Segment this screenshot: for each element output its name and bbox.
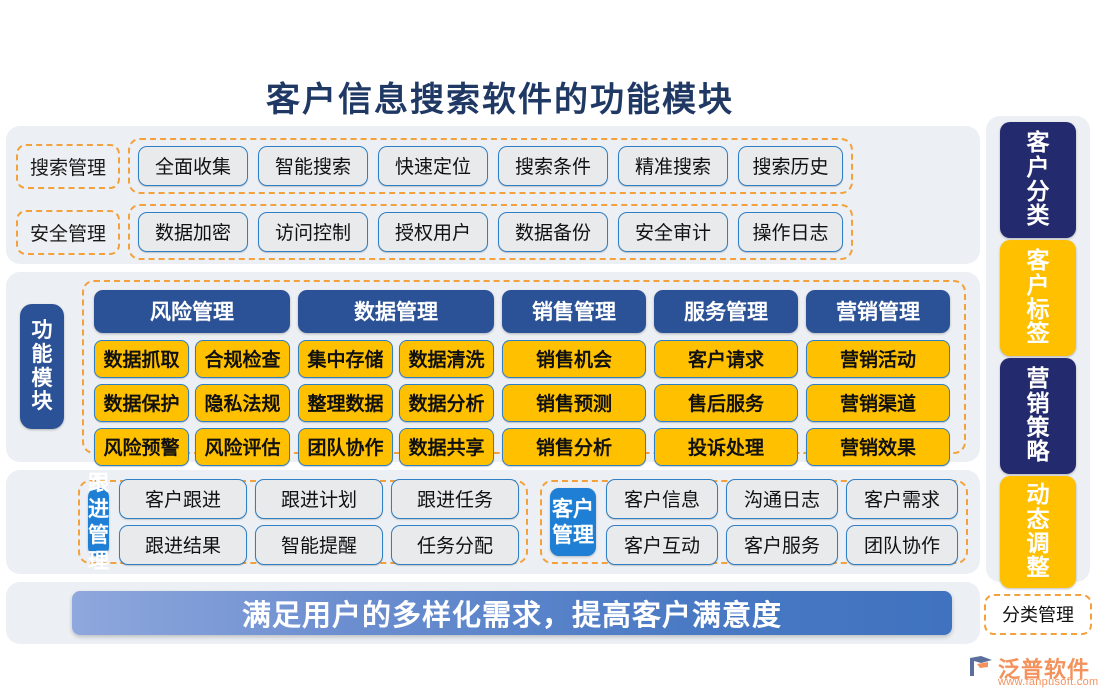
module-item-risk-3[interactable]: 数据保护 bbox=[94, 384, 189, 422]
followup-item-1[interactable]: 客户跟进 bbox=[119, 479, 247, 519]
module-item-marketing-1[interactable]: 营销活动 bbox=[806, 340, 950, 378]
row-tag-search-management[interactable]: 搜索管理 bbox=[16, 144, 120, 189]
module-item-risk-4[interactable]: 隐私法规 bbox=[195, 384, 290, 422]
function-modules-label[interactable]: 功 能 模 块 bbox=[20, 304, 64, 429]
module-item-risk-1[interactable]: 数据抓取 bbox=[94, 340, 189, 378]
module-item-data-3[interactable]: 整理数据 bbox=[298, 384, 393, 422]
followup-item-5[interactable]: 智能提醒 bbox=[255, 525, 383, 565]
logo-website-url: www.fanpusoft.com bbox=[998, 676, 1098, 688]
sidebar-block-customer-classification[interactable]: 客 户 分 类 bbox=[1000, 122, 1076, 238]
sidebar-char-9: 营 bbox=[1027, 367, 1050, 391]
module-header-data[interactable]: 数据管理 bbox=[298, 290, 494, 333]
sidebar-char-13: 动 bbox=[1027, 483, 1050, 507]
module-item-risk-2[interactable]: 合规检查 bbox=[195, 340, 290, 378]
sidebar-char-16: 整 bbox=[1027, 556, 1050, 580]
brand-logo: 泛普软件 www.fanpusoft.com bbox=[968, 652, 1098, 694]
sidebar-block-customer-tag[interactable]: 客 户 标 签 bbox=[1000, 240, 1076, 356]
search-management-chip-group: 全面收集 智能搜索 快速定位 搜索条件 精准搜索 搜索历史 bbox=[128, 138, 853, 194]
module-item-data-6[interactable]: 数据共享 bbox=[399, 428, 494, 466]
followup-group: 跟进 管理 客户跟进 跟进计划 跟进任务 跟进结果 智能提醒 任务分配 bbox=[78, 480, 528, 564]
module-column-service: 服务管理 客户请求 售后服务 投诉处理 bbox=[654, 290, 798, 466]
sidebar-char-2: 户 bbox=[1027, 156, 1050, 180]
module-column-sales: 销售管理 销售机会 销售预测 销售分析 bbox=[502, 290, 646, 466]
page-title: 客户信息搜索软件的功能模块 bbox=[0, 72, 1000, 121]
module-header-sales[interactable]: 销售管理 bbox=[502, 290, 646, 333]
vlabel-char-2: 能 bbox=[32, 343, 53, 367]
fanpu-logo-icon bbox=[968, 654, 994, 678]
followup-group-label[interactable]: 跟进 管理 bbox=[88, 488, 109, 556]
sidebar-char-7: 标 bbox=[1027, 298, 1050, 322]
customer-group: 客户 管理 客户信息 沟通日志 客户需求 客户互动 客户服务 团队协作 bbox=[540, 480, 968, 564]
chip-security-1[interactable]: 数据加密 bbox=[138, 212, 248, 252]
customer-group-label[interactable]: 客户 管理 bbox=[550, 488, 596, 556]
chip-search-1[interactable]: 全面收集 bbox=[138, 146, 248, 186]
sidebar-char-10: 销 bbox=[1027, 392, 1050, 416]
module-item-service-2[interactable]: 售后服务 bbox=[654, 384, 798, 422]
module-item-service-3[interactable]: 投诉处理 bbox=[654, 428, 798, 466]
infographic-canvas: 客户信息搜索软件的功能模块 搜索管理 全面收集 智能搜索 快速定位 搜索条件 精… bbox=[0, 0, 1100, 700]
followup-label-line-2: 管理 bbox=[88, 522, 109, 575]
module-header-service[interactable]: 服务管理 bbox=[654, 290, 798, 333]
sidebar-footer-label[interactable]: 分类管理 bbox=[984, 594, 1092, 635]
sidebar-char-3: 分 bbox=[1027, 180, 1050, 204]
sidebar-char-11: 策 bbox=[1027, 416, 1050, 440]
chip-security-5[interactable]: 安全审计 bbox=[618, 212, 728, 252]
module-column-risk: 风险管理 数据抓取 合规检查 数据保护 隐私法规 风险预警 风险评估 bbox=[94, 290, 290, 466]
module-item-data-5[interactable]: 团队协作 bbox=[298, 428, 393, 466]
customer-item-4[interactable]: 客户互动 bbox=[606, 525, 718, 565]
chip-search-4[interactable]: 搜索条件 bbox=[498, 146, 608, 186]
sidebar-char-6: 户 bbox=[1027, 274, 1050, 298]
sidebar-char-4: 类 bbox=[1027, 204, 1050, 228]
chip-security-2[interactable]: 访问控制 bbox=[258, 212, 368, 252]
followup-label-line-1: 跟进 bbox=[88, 470, 109, 523]
module-item-sales-3[interactable]: 销售分析 bbox=[502, 428, 646, 466]
module-item-data-2[interactable]: 数据清洗 bbox=[399, 340, 494, 378]
vlabel-char-3: 模 bbox=[32, 367, 53, 391]
module-item-risk-5[interactable]: 风险预警 bbox=[94, 428, 189, 466]
sidebar-char-15: 调 bbox=[1027, 532, 1050, 556]
module-header-marketing[interactable]: 营销管理 bbox=[806, 290, 950, 333]
customer-item-6[interactable]: 团队协作 bbox=[846, 525, 958, 565]
vlabel-char-4: 块 bbox=[32, 390, 53, 414]
followup-item-6[interactable]: 任务分配 bbox=[391, 525, 519, 565]
security-management-chip-group: 数据加密 访问控制 授权用户 数据备份 安全审计 操作日志 bbox=[128, 204, 853, 260]
function-modules-panel: 功 能 模 块 风险管理 数据抓取 合规检查 数据保护 隐私法规 风险预警 风险… bbox=[6, 272, 980, 462]
customer-label-line-2: 管理 bbox=[552, 522, 594, 548]
module-item-sales-2[interactable]: 销售预测 bbox=[502, 384, 646, 422]
sidebar-char-14: 态 bbox=[1027, 508, 1050, 532]
chip-security-6[interactable]: 操作日志 bbox=[738, 212, 843, 252]
chip-search-2[interactable]: 智能搜索 bbox=[258, 146, 368, 186]
summary-banner: 满足用户的多样化需求，提高客户满意度 bbox=[72, 591, 952, 635]
module-item-service-1[interactable]: 客户请求 bbox=[654, 340, 798, 378]
customer-item-3[interactable]: 客户需求 bbox=[846, 479, 958, 519]
sidebar-char-5: 客 bbox=[1027, 249, 1050, 273]
followup-item-2[interactable]: 跟进计划 bbox=[255, 479, 383, 519]
followup-item-4[interactable]: 跟进结果 bbox=[119, 525, 247, 565]
modules-dash-container: 风险管理 数据抓取 合规检查 数据保护 隐私法规 风险预警 风险评估 数据管理 … bbox=[82, 280, 966, 454]
sidebar-block-dynamic-adjustment[interactable]: 动 态 调 整 bbox=[1000, 476, 1076, 588]
customer-label-line-1: 客户 bbox=[552, 496, 594, 522]
vlabel-char-1: 功 bbox=[32, 319, 53, 343]
customer-item-2[interactable]: 沟通日志 bbox=[726, 479, 838, 519]
security-management-row: 安全管理 数据加密 访问控制 授权用户 数据备份 安全审计 操作日志 bbox=[16, 204, 853, 260]
bottom-groups-panel: 跟进 管理 客户跟进 跟进计划 跟进任务 跟进结果 智能提醒 任务分配 客户 管… bbox=[6, 470, 980, 574]
sidebar-char-8: 签 bbox=[1027, 322, 1050, 346]
chip-security-3[interactable]: 授权用户 bbox=[378, 212, 488, 252]
module-column-marketing: 营销管理 营销活动 营销渠道 营销效果 bbox=[806, 290, 950, 466]
search-management-row: 搜索管理 全面收集 智能搜索 快速定位 搜索条件 精准搜索 搜索历史 bbox=[16, 138, 853, 194]
chip-search-6[interactable]: 搜索历史 bbox=[738, 146, 843, 186]
chip-search-3[interactable]: 快速定位 bbox=[378, 146, 488, 186]
module-item-marketing-2[interactable]: 营销渠道 bbox=[806, 384, 950, 422]
module-item-data-4[interactable]: 数据分析 bbox=[399, 384, 494, 422]
module-column-data: 数据管理 集中存储 数据清洗 整理数据 数据分析 团队协作 数据共享 bbox=[298, 290, 494, 466]
chip-search-5[interactable]: 精准搜索 bbox=[618, 146, 728, 186]
sidebar-char-12: 略 bbox=[1027, 440, 1050, 464]
followup-item-3[interactable]: 跟进任务 bbox=[391, 479, 519, 519]
top-rows-panel: 搜索管理 全面收集 智能搜索 快速定位 搜索条件 精准搜索 搜索历史 安全管理 … bbox=[6, 126, 980, 264]
module-item-data-1[interactable]: 集中存储 bbox=[298, 340, 393, 378]
module-item-risk-6[interactable]: 风险评估 bbox=[195, 428, 290, 466]
chip-security-4[interactable]: 数据备份 bbox=[498, 212, 608, 252]
row-tag-security-management[interactable]: 安全管理 bbox=[16, 210, 120, 255]
module-item-sales-1[interactable]: 销售机会 bbox=[502, 340, 646, 378]
module-header-risk[interactable]: 风险管理 bbox=[94, 290, 290, 333]
sidebar-block-marketing-strategy[interactable]: 营 销 策 略 bbox=[1000, 358, 1076, 474]
sidebar-char-1: 客 bbox=[1027, 131, 1050, 155]
customer-item-5[interactable]: 客户服务 bbox=[726, 525, 838, 565]
customer-item-1[interactable]: 客户信息 bbox=[606, 479, 718, 519]
module-item-marketing-3[interactable]: 营销效果 bbox=[806, 428, 950, 466]
